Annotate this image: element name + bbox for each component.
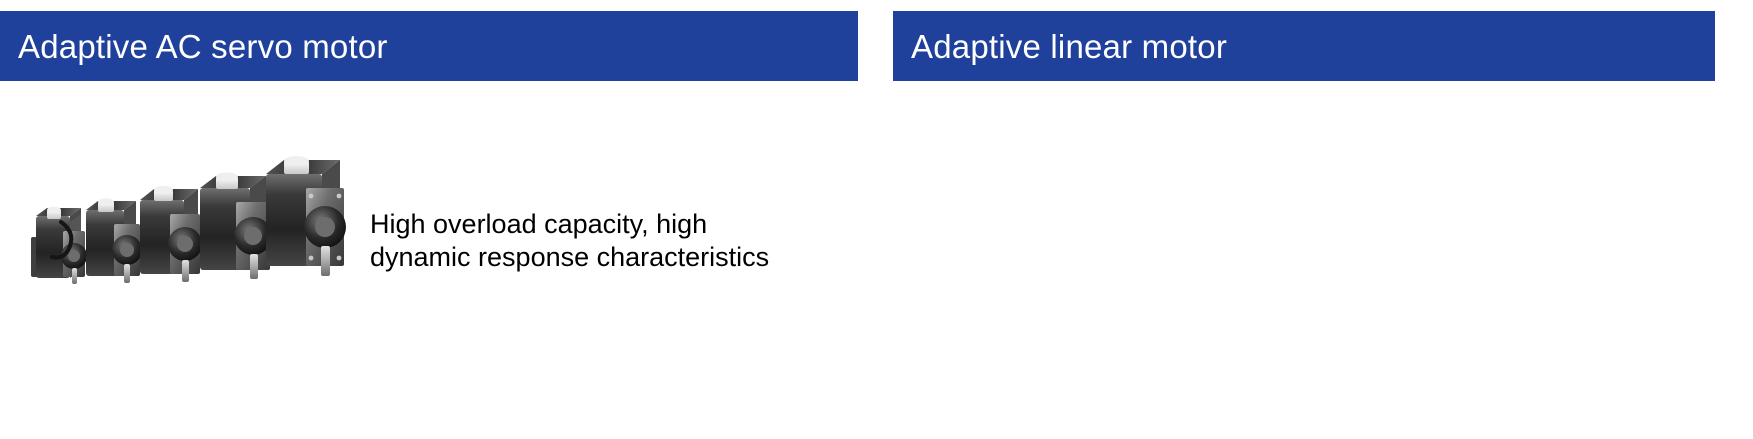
header-bar-linear-motor: Adaptive linear motor [893,11,1715,81]
servo-motor-unit [31,207,87,284]
linear-motor-photo: ▰▰▰ ▰▰ [1692,100,1753,375]
header-title-linear-motor: Adaptive linear motor [911,30,1227,63]
servo-motor-unit [200,172,272,279]
panel-ac-servo-motor: Adaptive AC servo motor [0,0,880,439]
slide-root: Adaptive AC servo motor [0,0,1753,439]
caption-ac-servo-motor: High overload capacity, high dynamic res… [370,208,790,274]
ac-servo-motor-photo [14,118,359,318]
panel-linear-motor: Adaptive linear motor [880,0,1753,439]
header-bar-ac-servo-motor: Adaptive AC servo motor [0,11,858,81]
servo-motor-unit [266,156,346,276]
servo-motor-unit [86,198,142,283]
header-title-ac-servo-motor: Adaptive AC servo motor [18,30,388,63]
servo-motor-unit [140,186,202,282]
